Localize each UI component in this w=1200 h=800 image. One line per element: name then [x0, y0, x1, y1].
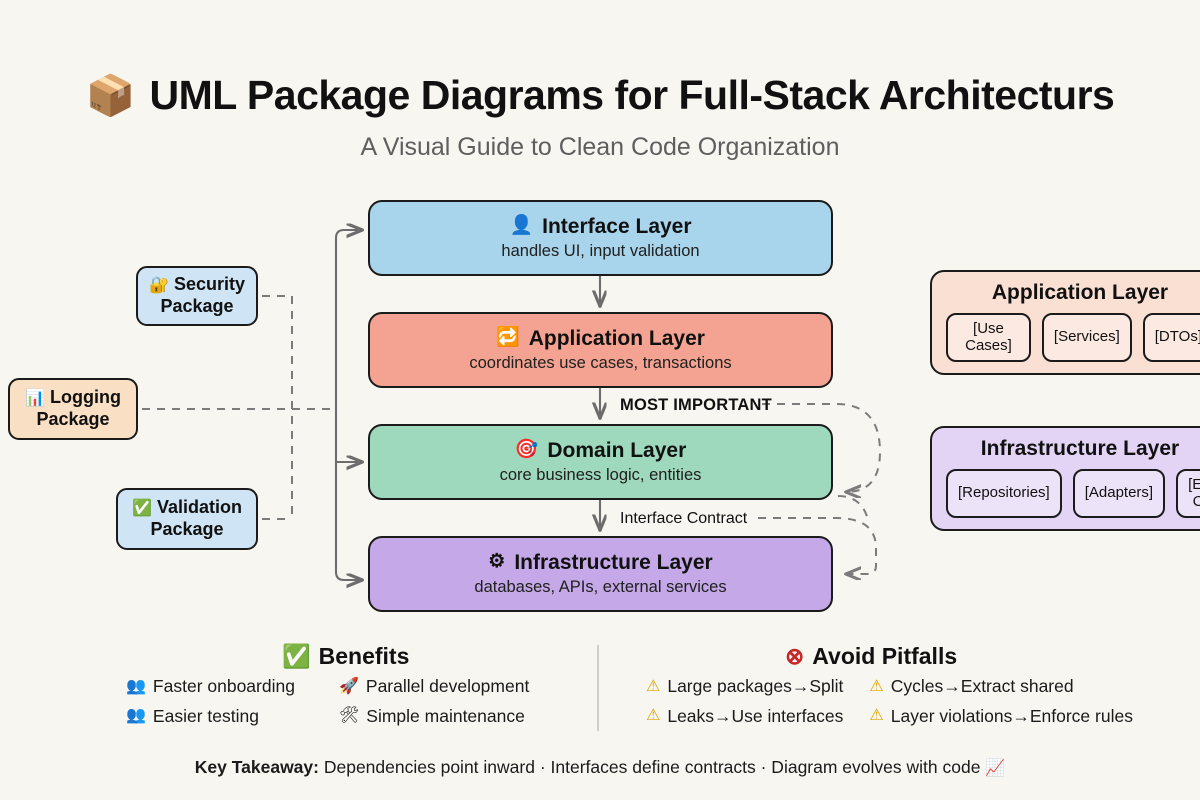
- people-icon: 👥: [126, 708, 146, 724]
- chip-dtos[interactable]: [DTOs]: [1143, 313, 1200, 362]
- panel-title: Application Layer: [946, 281, 1200, 305]
- footer-label: Key Takeaway:: [195, 757, 319, 777]
- package-box-logging[interactable]: 📊LoggingPackage: [8, 378, 138, 440]
- layer-title-domain: 🎯 Domain Layer: [515, 439, 687, 462]
- rocket-icon: 🚀: [339, 679, 359, 695]
- warning-icon: ⚠: [646, 679, 660, 695]
- benefits-heading: ✅ Benefits: [282, 643, 409, 670]
- list-item-label: Large packages→Split: [667, 678, 843, 696]
- list-item-label: Parallel development: [366, 678, 529, 696]
- package-suffix: Package: [160, 296, 233, 316]
- layer-box-interface[interactable]: 👤 Interface Layer handles UI, input vali…: [368, 200, 833, 276]
- list-item-label: Cycles→Extract shared: [891, 678, 1074, 696]
- panel-chip-row: [Repositories] [Adapters] [External Clie…: [946, 469, 1200, 518]
- check-mark-icon: ✅: [132, 500, 152, 517]
- pitfalls-heading: ⊗ Avoid Pitfalls: [785, 643, 957, 670]
- package-name: Logging: [50, 387, 121, 407]
- panel-title: Infrastructure Layer: [946, 437, 1200, 461]
- list-item: 🛠 Simple maintenance: [339, 708, 529, 726]
- layer-title-text: Domain Layer: [547, 439, 686, 462]
- list-item: ⚠ Layer violations→Enforce rules: [869, 708, 1133, 726]
- layer-box-application[interactable]: 🔁 Application Layer coordinates use case…: [368, 312, 833, 388]
- list-item: 🚀 Parallel development: [339, 678, 529, 696]
- gear-icon: ⚙: [488, 552, 505, 573]
- warning-icon: ⚠: [646, 708, 660, 724]
- package-name: Security: [174, 274, 245, 294]
- benefits-list: 👥 Faster onboarding 🚀 Parallel developme…: [126, 678, 529, 725]
- layer-title-application: 🔁 Application Layer: [496, 327, 705, 350]
- layer-title-text: Infrastructure Layer: [514, 551, 712, 574]
- layer-subtitle-interface: handles UI, input validation: [501, 242, 699, 261]
- list-item-label: Leaks→Use interfaces: [667, 708, 843, 726]
- tools-icon: 🛠: [339, 708, 359, 724]
- people-icon: 👥: [126, 679, 146, 695]
- layer-title-text: Application Layer: [529, 327, 705, 350]
- list-item-label: Faster onboarding: [153, 678, 295, 696]
- layer-title-interface: 👤 Interface Layer: [509, 215, 691, 238]
- footer-text: Dependencies point inward · Interfaces d…: [319, 757, 985, 777]
- list-item: 👥 Faster onboarding: [126, 678, 295, 696]
- check-mark-icon: ✅: [282, 643, 311, 670]
- package-box-validation[interactable]: ✅ValidationPackage: [116, 488, 258, 550]
- list-item: ⚠ Large packages→Split: [646, 678, 843, 696]
- layer-title-infrastructure: ⚙ Infrastructure Layer: [488, 551, 712, 574]
- edge-label-most-important: MOST IMPORTANT: [620, 396, 772, 415]
- layer-title-text: Interface Layer: [542, 215, 691, 238]
- diagram-canvas: 📦 UML Package Diagrams for Full-Stack Ar…: [0, 0, 1200, 800]
- page-subtitle: A Visual Guide to Clean Code Organizatio…: [0, 133, 1200, 162]
- chart-bars-icon: 📊: [25, 390, 45, 407]
- layer-subtitle-infrastructure: databases, APIs, external services: [474, 578, 726, 597]
- package-suffix: Package: [36, 409, 109, 429]
- list-item: ⚠ Cycles→Extract shared: [869, 678, 1133, 696]
- title-text: UML Package Diagrams for Full-Stack Arch…: [149, 72, 1114, 119]
- package-suffix: Package: [150, 519, 223, 539]
- key-takeaway-footer: Key Takeaway: Dependencies point inward …: [0, 757, 1200, 778]
- chip-adapters[interactable]: [Adapters]: [1073, 469, 1165, 518]
- package-box-security[interactable]: 🔐SecurityPackage: [136, 266, 258, 326]
- refresh-cycle-icon: 🔁: [496, 328, 520, 349]
- detail-panel-infrastructure[interactable]: Infrastructure Layer [Repositories] [Ada…: [930, 426, 1200, 531]
- warning-icon: ⚠: [869, 679, 883, 695]
- lock-icon: 🔐: [149, 277, 169, 294]
- target-icon: 🎯: [515, 440, 539, 461]
- chip-services[interactable]: [Services]: [1042, 313, 1132, 362]
- layer-box-domain[interactable]: 🎯 Domain Layer core business logic, enti…: [368, 424, 833, 500]
- trending-up-icon: 📈: [985, 760, 1005, 777]
- layer-subtitle-application: coordinates use cases, transactions: [469, 354, 731, 373]
- pitfalls-list: ⚠ Large packages→Split ⚠ Cycles→Extract …: [646, 678, 1133, 725]
- list-item-label: Easier testing: [153, 708, 259, 726]
- chip-use-cases[interactable]: [Use Cases]: [946, 313, 1031, 362]
- chip-repositories[interactable]: [Repositories]: [946, 469, 1062, 518]
- circle-x-icon: ⊗: [785, 643, 804, 670]
- benefits-heading-text: Benefits: [319, 643, 410, 670]
- section-divider: [597, 645, 599, 731]
- package-name: Validation: [157, 497, 242, 517]
- detail-panel-application[interactable]: Application Layer [Use Cases] [Services]…: [930, 270, 1200, 375]
- page-title: 📦 UML Package Diagrams for Full-Stack Ar…: [0, 72, 1200, 119]
- edge-label-interface-contract: Interface Contract: [620, 510, 747, 528]
- chip-external-clients[interactable]: [External Clients]: [1176, 469, 1200, 518]
- list-item-label: Layer violations→Enforce rules: [891, 708, 1133, 726]
- pitfalls-heading-text: Avoid Pitfalls: [812, 643, 957, 670]
- layer-subtitle-domain: core business logic, entities: [500, 466, 702, 485]
- layer-box-infrastructure[interactable]: ⚙ Infrastructure Layer databases, APIs, …: [368, 536, 833, 612]
- panel-chip-row: [Use Cases] [Services] [DTOs]: [946, 313, 1200, 362]
- list-item: 👥 Easier testing: [126, 708, 295, 726]
- list-item: ⚠ Leaks→Use interfaces: [646, 708, 843, 726]
- person-icon: 👤: [509, 216, 533, 237]
- list-item-label: Simple maintenance: [366, 708, 525, 726]
- warning-icon: ⚠: [869, 708, 883, 724]
- package-box-icon: 📦: [86, 76, 136, 116]
